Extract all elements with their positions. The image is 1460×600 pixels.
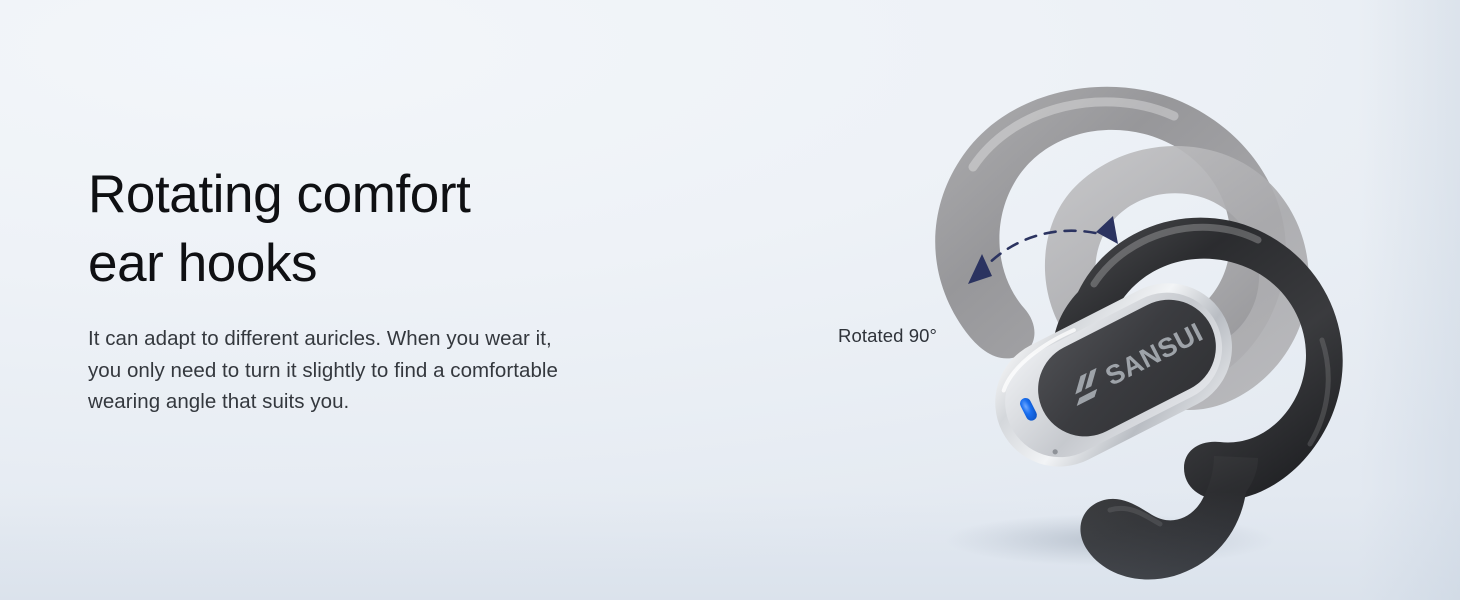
body-paragraph: It can adapt to different auricles. When… [88,298,748,418]
product-illustration: SANSUI [810,40,1460,600]
promo-banner: Rotating comfort ear hooks It can adapt … [0,0,1460,600]
copy-block: Rotating comfort ear hooks It can adapt … [88,160,748,418]
page-title: Rotating comfort ear hooks [88,160,748,298]
rotation-label: Rotated 90° [838,325,937,347]
